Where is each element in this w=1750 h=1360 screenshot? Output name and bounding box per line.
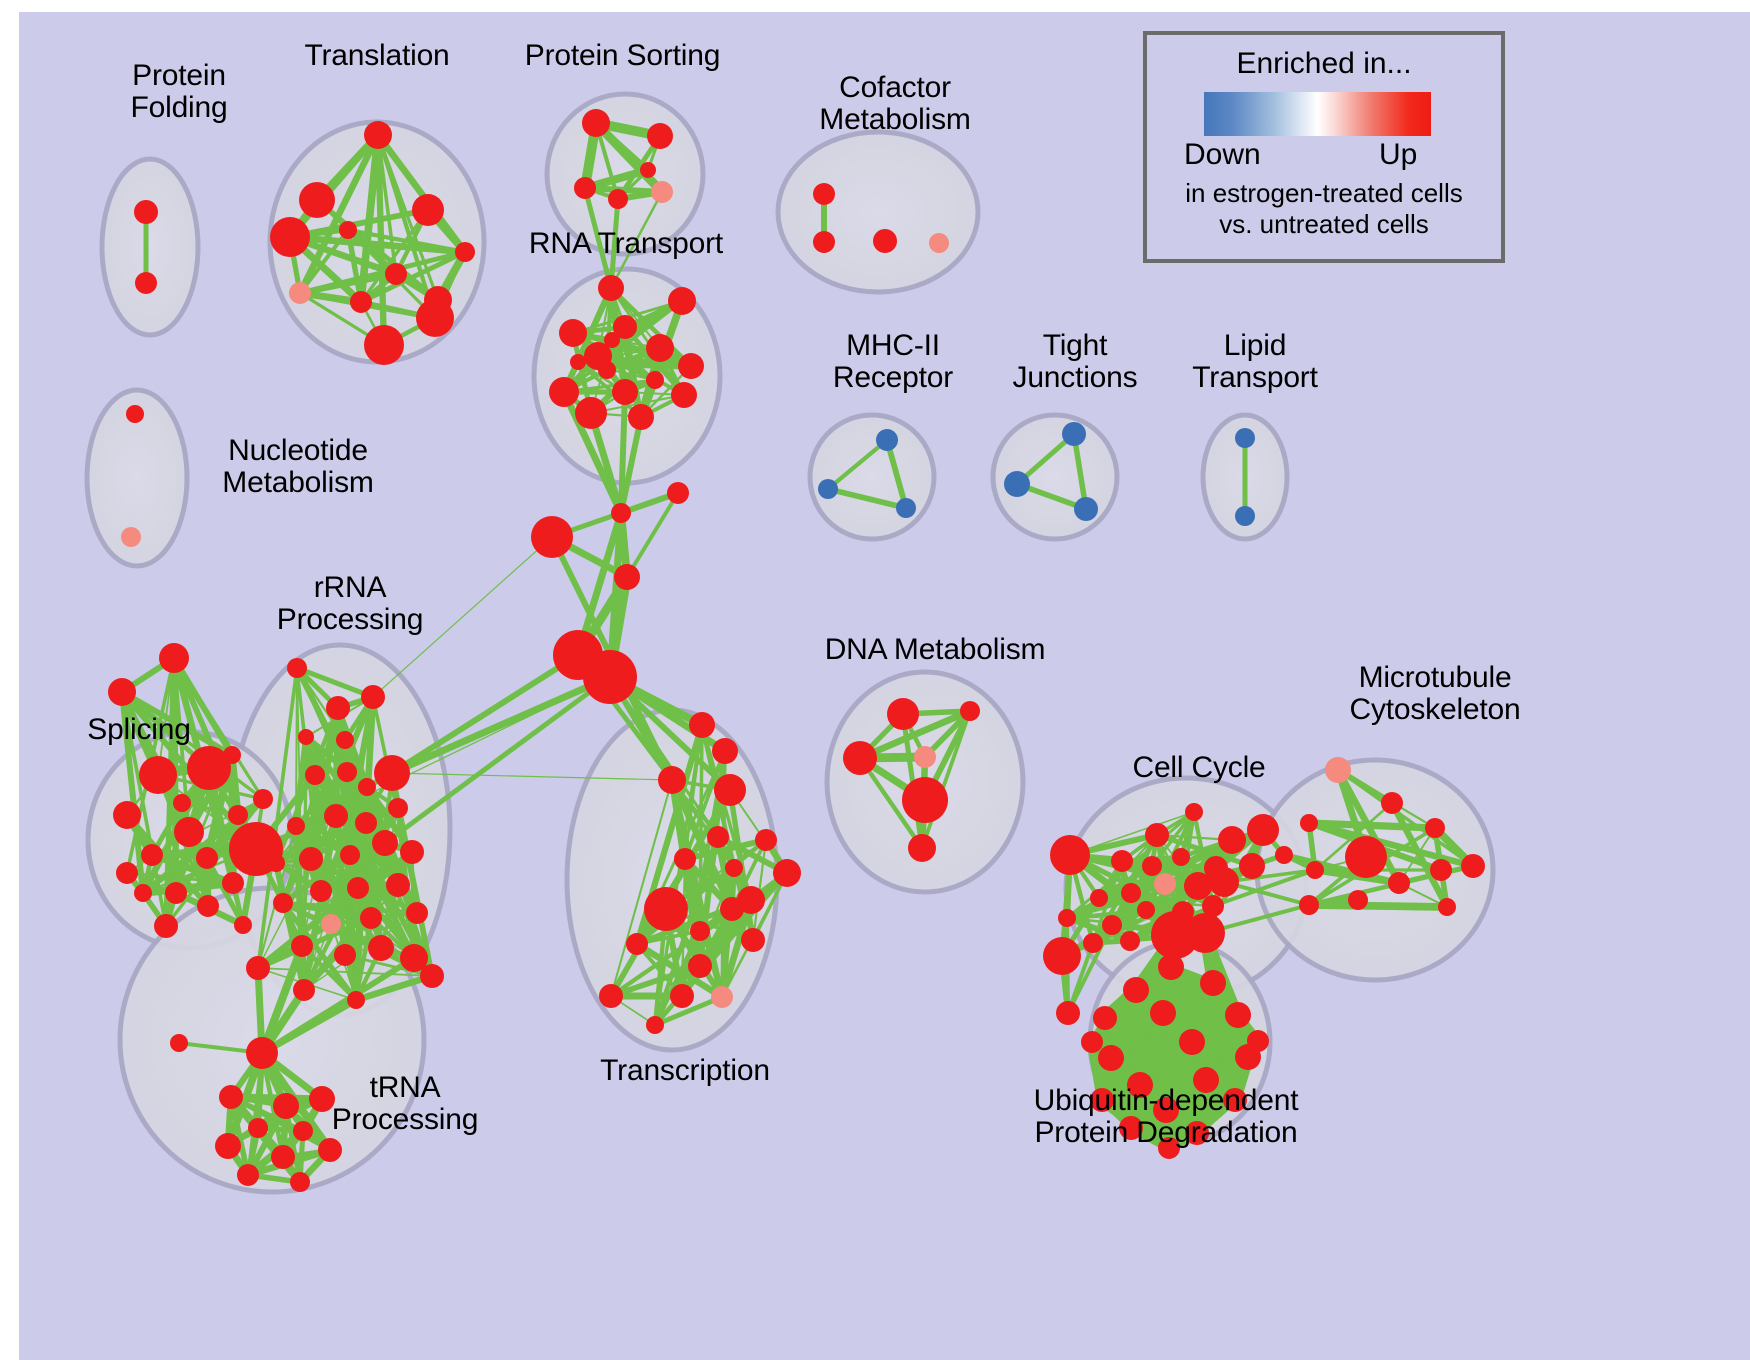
network-node[interactable]: [559, 319, 587, 347]
network-node[interactable]: [667, 482, 689, 504]
network-node[interactable]: [350, 291, 372, 313]
legend-up-label: Up: [1379, 138, 1417, 172]
cluster-label-microtubule-cytoskeleton: Microtubule Cytoskeleton: [1310, 662, 1560, 727]
network-node[interactable]: [237, 1164, 259, 1186]
network-node[interactable]: [347, 877, 369, 899]
network-node[interactable]: [416, 299, 454, 337]
network-node[interactable]: [139, 756, 177, 794]
network-node[interactable]: [334, 944, 356, 966]
network-node[interactable]: [570, 354, 586, 370]
network-node[interactable]: [873, 229, 897, 253]
network-node[interactable]: [222, 872, 244, 894]
network-node[interactable]: [876, 429, 898, 451]
network-node[interactable]: [324, 804, 348, 828]
network-node[interactable]: [234, 916, 252, 934]
network-node[interactable]: [336, 731, 354, 749]
network-node[interactable]: [674, 848, 696, 870]
network-node[interactable]: [773, 859, 801, 887]
network-node[interactable]: [310, 880, 332, 902]
network-node[interactable]: [960, 701, 980, 721]
cluster-label-translation: Translation: [272, 40, 482, 72]
network-node[interactable]: [1185, 803, 1203, 821]
network-node[interactable]: [1235, 428, 1255, 448]
network-node[interactable]: [1120, 931, 1140, 951]
network-node[interactable]: [215, 1133, 241, 1159]
network-node[interactable]: [1093, 1006, 1117, 1030]
network-node[interactable]: [340, 845, 360, 865]
network-node[interactable]: [113, 801, 141, 829]
cluster-label-rna-transport: RNA Transport: [506, 228, 746, 260]
network-node[interactable]: [364, 121, 392, 149]
network-node[interactable]: [612, 379, 638, 405]
network-node[interactable]: [1239, 853, 1265, 879]
network-node[interactable]: [644, 887, 688, 931]
network-node[interactable]: [1247, 814, 1279, 846]
cluster-hull-mhc-ii-receptor: [810, 415, 934, 539]
network-node[interactable]: [1004, 471, 1030, 497]
cluster-label-rrna-processing: rRNA Processing: [250, 572, 450, 637]
network-node[interactable]: [640, 162, 656, 178]
network-node[interactable]: [678, 353, 704, 379]
network-node[interactable]: [364, 325, 404, 365]
network-node[interactable]: [1306, 861, 1324, 879]
network-node[interactable]: [628, 404, 654, 430]
network-node[interactable]: [1300, 814, 1318, 832]
network-node[interactable]: [813, 231, 835, 253]
network-node[interactable]: [929, 233, 949, 253]
network-node[interactable]: [658, 766, 686, 794]
network-node[interactable]: [1111, 850, 1133, 872]
network-node[interactable]: [646, 1016, 664, 1034]
network-node[interactable]: [406, 902, 428, 924]
network-node[interactable]: [896, 498, 916, 518]
network-node[interactable]: [400, 840, 424, 864]
network-node[interactable]: [1179, 1029, 1205, 1055]
network-node[interactable]: [1461, 854, 1485, 878]
network-edge: [1309, 905, 1447, 907]
network-node[interactable]: [1425, 818, 1445, 838]
network-node[interactable]: [305, 765, 325, 785]
network-node[interactable]: [290, 1172, 310, 1192]
network-node[interactable]: [1225, 1002, 1251, 1028]
network-node[interactable]: [549, 377, 579, 407]
network-node[interactable]: [651, 181, 673, 203]
network-node[interactable]: [818, 479, 838, 499]
network-node[interactable]: [246, 956, 270, 980]
network-node[interactable]: [1150, 1000, 1176, 1026]
cluster-hull-protein-folding: [102, 159, 198, 335]
network-node[interactable]: [813, 183, 835, 205]
network-node[interactable]: [887, 698, 919, 730]
network-node[interactable]: [108, 678, 136, 706]
network-node[interactable]: [361, 685, 385, 709]
network-node[interactable]: [126, 405, 144, 423]
network-node[interactable]: [1184, 872, 1212, 900]
network-node[interactable]: [1158, 954, 1184, 980]
network-node[interactable]: [583, 650, 637, 704]
network-node[interactable]: [116, 862, 138, 884]
network-node[interactable]: [690, 921, 710, 941]
network-node[interactable]: [1142, 856, 1162, 876]
network-node[interactable]: [646, 371, 664, 389]
network-node[interactable]: [165, 882, 187, 904]
network-node[interactable]: [1090, 889, 1108, 907]
network-node[interactable]: [714, 774, 746, 806]
network-node[interactable]: [339, 221, 357, 239]
network-node[interactable]: [196, 847, 218, 869]
network-node[interactable]: [420, 964, 444, 988]
network-node[interactable]: [291, 935, 313, 957]
network-node[interactable]: [755, 829, 777, 851]
network-node[interactable]: [141, 844, 163, 866]
legend-sublabel: in estrogen-treated cells vs. untreated …: [1147, 178, 1501, 240]
network-node[interactable]: [668, 287, 696, 315]
network-node[interactable]: [1083, 933, 1103, 953]
legend-title: Enriched in...: [1147, 47, 1501, 81]
network-node[interactable]: [267, 854, 285, 872]
network-node[interactable]: [647, 123, 673, 149]
network-node[interactable]: [159, 643, 189, 673]
network-node[interactable]: [1200, 970, 1226, 996]
network-node[interactable]: [741, 928, 765, 952]
network-node[interactable]: [374, 755, 410, 791]
network-node[interactable]: [270, 217, 310, 257]
cluster-label-mhc-ii-receptor: MHC-II Receptor: [803, 330, 983, 395]
network-node[interactable]: [298, 729, 314, 745]
network-node[interactable]: [1299, 895, 1319, 915]
network-node[interactable]: [321, 914, 341, 934]
network-node[interactable]: [287, 817, 305, 835]
network-node[interactable]: [197, 895, 219, 917]
network-node[interactable]: [598, 275, 624, 301]
network-node[interactable]: [531, 516, 573, 558]
network-node[interactable]: [1050, 835, 1090, 875]
network-node[interactable]: [1275, 846, 1293, 864]
network-node[interactable]: [1348, 890, 1368, 910]
network-node[interactable]: [1137, 901, 1155, 919]
network-node[interactable]: [707, 826, 729, 848]
network-node[interactable]: [599, 984, 623, 1008]
cluster-hull-cofactor-metabolism: [778, 132, 978, 292]
network-node[interactable]: [154, 914, 178, 938]
cluster-label-protein-folding: Protein Folding: [84, 60, 274, 125]
network-node[interactable]: [689, 712, 715, 738]
network-node[interactable]: [173, 794, 191, 812]
network-node[interactable]: [582, 109, 610, 137]
network-node[interactable]: [1154, 873, 1176, 895]
network-node[interactable]: [608, 189, 628, 209]
network-node[interactable]: [299, 847, 323, 871]
network-node[interactable]: [271, 1145, 295, 1169]
network-node[interactable]: [611, 503, 631, 523]
network-node[interactable]: [1325, 757, 1351, 783]
network-node[interactable]: [1081, 1031, 1103, 1053]
legend-down-label: Down: [1184, 138, 1261, 172]
network-node[interactable]: [287, 658, 307, 678]
network-node[interactable]: [1430, 859, 1452, 881]
network-node[interactable]: [670, 984, 694, 1008]
network-node[interactable]: [598, 361, 616, 379]
network-node[interactable]: [289, 282, 311, 304]
network-node[interactable]: [293, 979, 315, 1001]
network-node[interactable]: [299, 182, 335, 218]
network-node[interactable]: [326, 696, 350, 720]
network-node[interactable]: [318, 1138, 342, 1162]
network-node[interactable]: [219, 1085, 243, 1109]
network-node[interactable]: [273, 893, 293, 913]
network-node[interactable]: [1074, 497, 1098, 521]
network-node[interactable]: [614, 564, 640, 590]
network-node[interactable]: [372, 830, 398, 856]
network-node[interactable]: [575, 397, 607, 429]
network-node[interactable]: [347, 991, 365, 1009]
network-node[interactable]: [1209, 867, 1239, 897]
network-node[interactable]: [1218, 826, 1246, 854]
network-node[interactable]: [388, 798, 408, 818]
network-node[interactable]: [246, 1037, 278, 1069]
network-node[interactable]: [135, 272, 157, 294]
cluster-label-transcription: Transcription: [570, 1055, 800, 1087]
network-node[interactable]: [720, 897, 744, 921]
network-node[interactable]: [1123, 977, 1149, 1003]
network-node[interactable]: [1388, 872, 1410, 894]
legend-color-gradient: [1204, 92, 1431, 136]
network-node[interactable]: [1056, 1001, 1080, 1025]
cluster-label-protein-sorting: Protein Sorting: [500, 40, 745, 72]
network-node[interactable]: [843, 741, 877, 775]
network-node[interactable]: [337, 762, 357, 782]
network-edge: [1092, 1041, 1258, 1042]
cluster-label-ubiquitin-degradation: Ubiquitin-dependent Protein Degradation: [996, 1085, 1336, 1150]
network-node[interactable]: [646, 334, 674, 362]
network-node[interactable]: [187, 746, 231, 790]
cluster-label-splicing: Splicing: [59, 714, 219, 746]
network-node[interactable]: [412, 194, 444, 226]
cluster-label-lipid-transport: Lipid Transport: [1165, 330, 1345, 395]
network-node[interactable]: [385, 263, 407, 285]
network-node[interactable]: [908, 834, 936, 862]
cluster-label-nucleotide-metabolism: Nucleotide Metabolism: [193, 435, 403, 500]
cluster-label-cell-cycle: Cell Cycle: [1104, 752, 1294, 784]
network-node[interactable]: [174, 817, 204, 847]
network-node[interactable]: [355, 812, 377, 834]
legend: Enriched in... Down Up in estrogen-treat…: [1143, 31, 1505, 263]
network-node[interactable]: [121, 527, 141, 547]
network-node[interactable]: [228, 805, 248, 825]
cluster-label-trna-processing: tRNA Processing: [305, 1072, 505, 1137]
network-node[interactable]: [712, 738, 738, 764]
enrichment-map-figure: Protein FoldingTranslationProtein Sortin…: [0, 0, 1750, 1360]
cluster-label-dna-metabolism: DNA Metabolism: [810, 634, 1060, 666]
network-node[interactable]: [725, 859, 743, 877]
network-node[interactable]: [253, 789, 273, 809]
network-node[interactable]: [248, 1118, 268, 1138]
network-node[interactable]: [1062, 422, 1086, 446]
network-node[interactable]: [914, 746, 936, 768]
network-node[interactable]: [1102, 915, 1122, 935]
network-node[interactable]: [1381, 792, 1403, 814]
network-node[interactable]: [134, 200, 158, 224]
network-node[interactable]: [626, 933, 648, 955]
network-edge: [621, 392, 625, 513]
network-node[interactable]: [273, 1093, 299, 1119]
network-node[interactable]: [902, 777, 948, 823]
cluster-label-cofactor-metabolism: Cofactor Metabolism: [790, 72, 1000, 137]
network-node[interactable]: [360, 907, 382, 929]
network-node[interactable]: [1121, 883, 1141, 903]
network-node[interactable]: [1145, 823, 1169, 847]
network-node[interactable]: [574, 177, 596, 199]
network-node[interactable]: [358, 778, 376, 796]
network-node[interactable]: [688, 954, 712, 978]
network-node[interactable]: [455, 242, 475, 262]
network-node[interactable]: [671, 382, 697, 408]
network-node[interactable]: [604, 332, 620, 348]
network-node[interactable]: [1058, 909, 1076, 927]
network-node[interactable]: [1043, 937, 1081, 975]
cluster-label-tight-junctions: Tight Junctions: [985, 330, 1165, 395]
network-node[interactable]: [1185, 913, 1225, 953]
network-node[interactable]: [1247, 1030, 1269, 1052]
network-node[interactable]: [170, 1034, 188, 1052]
network-node[interactable]: [1345, 836, 1387, 878]
network-node[interactable]: [1172, 848, 1190, 866]
network-node[interactable]: [1098, 1045, 1124, 1071]
network-node[interactable]: [1235, 506, 1255, 526]
network-node[interactable]: [134, 884, 152, 902]
network-node[interactable]: [368, 935, 394, 961]
network-node[interactable]: [386, 873, 410, 897]
network-node[interactable]: [1438, 898, 1456, 916]
network-node[interactable]: [711, 986, 733, 1008]
